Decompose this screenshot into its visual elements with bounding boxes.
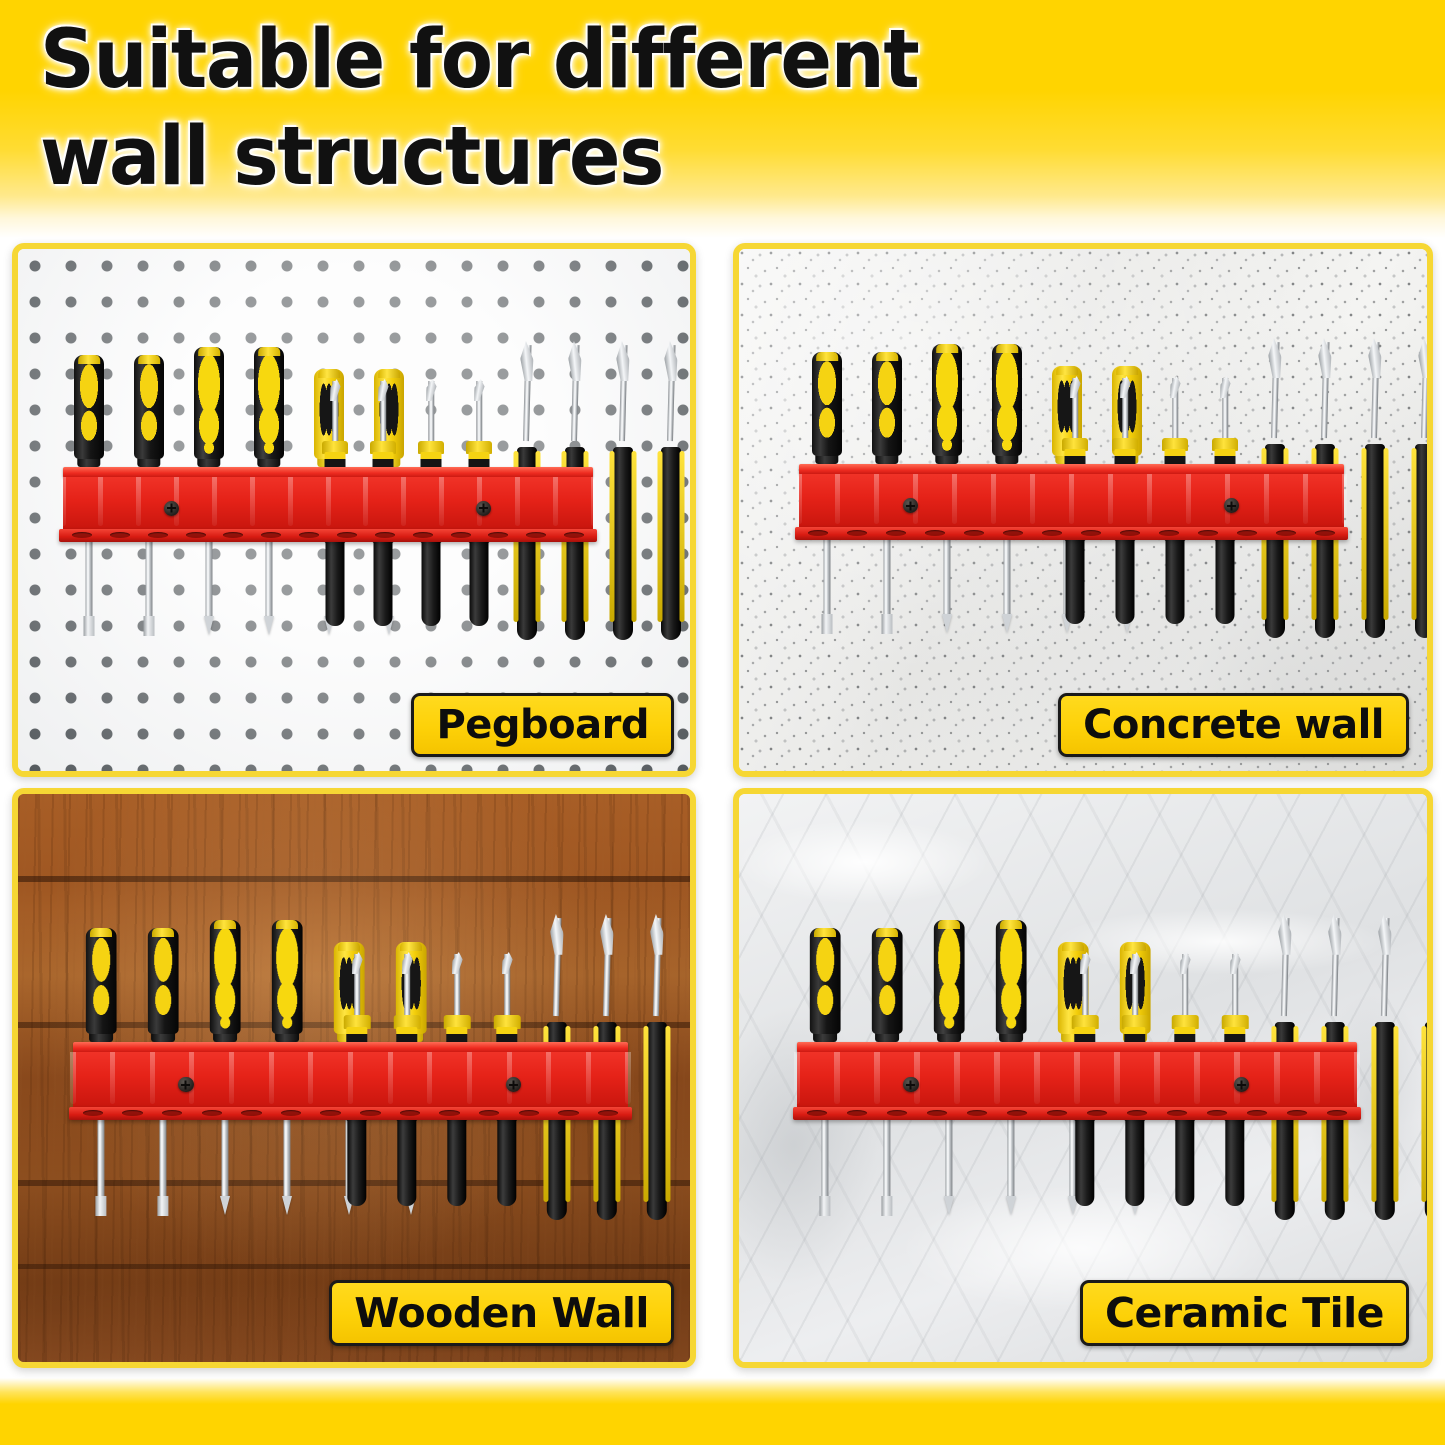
tool-black-handle: [647, 1022, 667, 1220]
rack-slot: [1194, 1052, 1199, 1103]
panel-concrete-wall: Concrete wall: [733, 243, 1433, 777]
tool-blade: [424, 379, 438, 401]
rack-slot: [797, 474, 802, 524]
tool-blade: [328, 379, 342, 401]
tool-blade: [1416, 338, 1433, 378]
rack-slot: [250, 477, 255, 526]
rack-hole: [320, 1110, 340, 1116]
screwdriver-handle: [134, 355, 164, 459]
tool-black-handle: [1365, 444, 1385, 638]
rack-hole: [162, 1110, 182, 1116]
rack-hole: [337, 532, 357, 538]
tool-black-handle: [661, 447, 681, 640]
rack-hole: [598, 1110, 618, 1116]
screwdriver-cap: [138, 355, 160, 364]
tool-blade: [472, 379, 486, 401]
rack-hole: [927, 1110, 947, 1116]
rack-hole: [564, 532, 584, 538]
badge-concrete-wall: Concrete wall: [1058, 693, 1409, 757]
tool-black-handle: [1075, 1118, 1094, 1206]
rack-hole: [148, 532, 168, 538]
rack-hole: [241, 1110, 261, 1116]
rack-slot: [1108, 474, 1113, 524]
tool-blade: [1426, 914, 1433, 955]
screwdriver-cap: [318, 369, 340, 378]
tool-blade: [500, 952, 514, 974]
screwdriver-cap: [1056, 366, 1078, 375]
red-tool-rack: [799, 464, 1344, 540]
rack-slot: [952, 474, 957, 524]
tool-black-handle: [470, 540, 489, 626]
flat-tip: [822, 614, 833, 634]
rack-slot: [835, 474, 840, 524]
tool-blade: [614, 341, 631, 381]
rack-slot: [348, 1052, 353, 1103]
tool-black-handle: [1175, 1118, 1194, 1206]
red-tool-rack: [63, 467, 593, 542]
rack-slot: [1342, 474, 1347, 524]
rack-slot: [150, 1052, 155, 1103]
screwdriver-cap: [1062, 942, 1084, 951]
tool-black-handle: [326, 540, 345, 626]
screwdriver-cap: [876, 352, 898, 361]
rack-mounting-screw: [178, 1077, 193, 1092]
screwdriver-handle: [74, 355, 104, 459]
tool-blade: [1316, 338, 1333, 378]
tool-yellow-edge: [1412, 448, 1417, 620]
tool-blade: [1068, 376, 1082, 398]
rack-hole: [1047, 1110, 1067, 1116]
rack-hole: [110, 532, 130, 538]
tool-blade: [1326, 914, 1344, 955]
rack-slot: [439, 477, 444, 526]
rack-slot: [591, 477, 596, 526]
rack-slot: [546, 1052, 551, 1103]
phillips-tip: [264, 616, 274, 635]
screwdriver-cap: [276, 920, 298, 929]
rack-hole: [1159, 530, 1179, 536]
flat-tip: [157, 1196, 168, 1216]
tool-black-handle: [1166, 538, 1185, 624]
rack-hole: [1087, 1110, 1107, 1116]
precision-tool: [1420, 918, 1433, 1247]
rack-hole: [1276, 530, 1296, 536]
tool-blade: [518, 341, 535, 381]
rack-slot: [1034, 1052, 1039, 1103]
rack-slot: [467, 1052, 472, 1103]
rack-hole: [1007, 1110, 1027, 1116]
tool-blade: [450, 952, 464, 974]
rack-hole: [1127, 1110, 1147, 1116]
screwdriver-cap: [338, 942, 360, 951]
precision-tool: [692, 918, 696, 1247]
screwdriver-cap: [938, 920, 960, 929]
screwdriver-cap: [996, 344, 1018, 353]
screwdriver-cap: [378, 369, 400, 378]
tool-blade: [1218, 376, 1232, 398]
rack-slot: [994, 1052, 999, 1103]
screwdriver-handle: [254, 347, 284, 459]
tool-blade: [1168, 376, 1182, 398]
rack-hole: [400, 1110, 420, 1116]
rack-slot: [363, 477, 368, 526]
rack-hole: [360, 1110, 380, 1116]
rack-slot: [1074, 1052, 1079, 1103]
flat-tip: [882, 614, 893, 634]
screwdriver-handle: [812, 352, 842, 456]
rack-slot: [1154, 1052, 1159, 1103]
screwdriver-cap: [152, 928, 174, 937]
tool-blade: [350, 952, 364, 974]
tool-blade: [662, 341, 679, 381]
rack-slot: [269, 1052, 274, 1103]
rack-hole: [558, 1110, 578, 1116]
panel-pegboard: Pegboard: [12, 243, 696, 777]
rack-slot: [427, 1052, 432, 1103]
tool-yellow-edge: [1371, 1026, 1376, 1202]
rack-hole: [1120, 530, 1140, 536]
tool-yellow-edge: [658, 451, 663, 622]
screwdriver-handle: [934, 920, 965, 1034]
rack-hole: [1042, 530, 1062, 536]
tool-yellow-edge: [1394, 1026, 1399, 1202]
rack-hole: [1247, 1110, 1267, 1116]
phillips-tip: [282, 1196, 292, 1215]
red-tool-rack: [73, 1042, 628, 1120]
rack-slot: [991, 474, 996, 524]
rack-hole: [807, 1110, 827, 1116]
rack-slot: [834, 1052, 839, 1103]
tool-yellow-edge: [693, 1026, 696, 1202]
tool-black-handle: [397, 1118, 416, 1206]
screwdriver-handle: [872, 928, 903, 1034]
tool-chrome-tip: [1431, 917, 1433, 1015]
rack-bottom-lip: [793, 1107, 1361, 1120]
rack-slot: [874, 1052, 879, 1103]
rack-slot: [1069, 474, 1074, 524]
tool-blade: [1178, 952, 1192, 974]
rack-slot: [212, 477, 217, 526]
precision-tool: [656, 345, 686, 666]
flat-tip: [881, 1196, 892, 1216]
rack-hole: [439, 1110, 459, 1116]
tool-yellow-edge: [632, 451, 637, 622]
precision-tool: [1370, 918, 1401, 1247]
rack-hole: [1287, 1110, 1307, 1116]
rack-hole: [887, 1110, 907, 1116]
rack-slot: [1303, 474, 1308, 524]
phillips-tip: [220, 1196, 230, 1215]
screwdriver-cap: [1116, 366, 1138, 375]
tool-black-handle: [1375, 1022, 1395, 1220]
screwdriver-handle: [210, 920, 241, 1034]
phillips-tip: [1006, 1196, 1016, 1215]
tool-black-handle: [1116, 538, 1135, 624]
phillips-tip: [204, 616, 214, 635]
rack-slot: [1314, 1052, 1319, 1103]
badge-pegboard: Pegboard: [411, 693, 674, 757]
rack-hole: [1315, 530, 1335, 536]
rack-hole: [967, 1110, 987, 1116]
screwdriver-cap: [400, 942, 422, 951]
rack-slot: [388, 1052, 393, 1103]
tool-blade: [1376, 914, 1394, 955]
rack-hole: [375, 532, 395, 538]
tool-blade: [1078, 952, 1092, 974]
rack-slot: [70, 1052, 75, 1103]
tool-yellow-edge: [1362, 448, 1367, 620]
rack-slot: [553, 477, 558, 526]
rack-mounting-screw: [164, 501, 179, 516]
rack-slot: [1186, 474, 1191, 524]
rack-mounting-screw: [903, 1077, 918, 1092]
tool-black-handle: [1216, 538, 1235, 624]
rack-hole: [299, 532, 319, 538]
screwdriver-handle: [872, 352, 902, 456]
rack-slot: [1030, 474, 1035, 524]
screwdriver-cap: [78, 355, 100, 364]
screwdriver-cap: [214, 920, 236, 929]
tool-black-handle: [1066, 538, 1085, 624]
precision-tool: [1360, 342, 1390, 664]
rack-hole: [451, 532, 471, 538]
tool-blade: [1118, 376, 1132, 398]
page-title: Suitable for different wall structures: [40, 12, 1224, 206]
rack-slot: [98, 477, 103, 526]
rack-hole: [1198, 530, 1218, 536]
screwdriver-handle: [810, 928, 841, 1034]
tool-black-handle: [1125, 1118, 1144, 1206]
rack-hole: [1237, 530, 1257, 536]
screwdriver-handle: [86, 928, 117, 1034]
rack-hole: [519, 1110, 539, 1116]
rack-hole: [122, 1110, 142, 1116]
rack-slot: [1114, 1052, 1119, 1103]
rack-slot: [586, 1052, 591, 1103]
panel-wooden-wall: Wooden Wall: [12, 788, 696, 1368]
badge-wooden-wall: Wooden Wall: [329, 1280, 674, 1346]
rack-mounting-screw: [903, 498, 918, 513]
rack-slot: [136, 477, 141, 526]
screwdriver-handle: [992, 344, 1022, 456]
screwdriver-cap: [876, 928, 898, 937]
tool-blade: [400, 952, 414, 974]
rack-hole: [281, 1110, 301, 1116]
tool-black-handle: [347, 1118, 366, 1206]
tool-blade: [1276, 914, 1294, 955]
tool-blade: [548, 914, 566, 955]
tool-yellow-edge: [610, 451, 615, 622]
screwdriver-cap: [1000, 920, 1022, 929]
badge-ceramic-tile: Ceramic Tile: [1080, 1280, 1409, 1346]
precision-tool: [642, 918, 673, 1247]
rack-hole: [202, 1110, 222, 1116]
rack-hole: [1207, 1110, 1227, 1116]
tool-black-handle: [422, 540, 441, 626]
rack-hole: [413, 532, 433, 538]
tool-black-handle: [447, 1118, 466, 1206]
rack-slot: [515, 477, 520, 526]
rack-hole: [1003, 530, 1023, 536]
rack-slot: [625, 1052, 630, 1103]
screwdriver-cap: [198, 347, 220, 356]
tool-black-handle: [374, 540, 393, 626]
rack-slot: [1354, 1052, 1359, 1103]
rack-hole: [72, 532, 92, 538]
tool-black-handle: [497, 1118, 516, 1206]
tool-yellow-edge: [1384, 448, 1389, 620]
screwdriver-handle: [272, 920, 303, 1034]
rack-slot: [61, 477, 66, 526]
tool-black-handle: [1415, 444, 1433, 638]
flat-tip: [819, 1196, 830, 1216]
phillips-tip: [944, 1196, 954, 1215]
screwdriver-cap: [936, 344, 958, 353]
rack-bottom-lip: [795, 527, 1348, 540]
precision-tool: [608, 345, 638, 666]
rack-slot: [954, 1052, 959, 1103]
phillips-tip: [942, 614, 952, 633]
tool-blade: [1366, 338, 1383, 378]
screwdriver-cap: [1124, 942, 1146, 951]
tool-black-handle: [613, 447, 633, 640]
rack-slot: [1147, 474, 1152, 524]
rack-slot: [326, 477, 331, 526]
tool-yellow-edge: [666, 1026, 671, 1202]
rack-slot: [1264, 474, 1269, 524]
rack-slot: [229, 1052, 234, 1103]
screwdriver-cap: [90, 928, 112, 937]
tool-yellow-edge: [1421, 1026, 1426, 1202]
rack-hole: [186, 532, 206, 538]
phillips-tip: [1002, 614, 1012, 633]
screwdriver-cap: [816, 352, 838, 361]
rack-hole: [847, 1110, 867, 1116]
screwdriver-handle: [996, 920, 1027, 1034]
tool-blade: [1128, 952, 1142, 974]
rack-slot: [110, 1052, 115, 1103]
rack-slot: [401, 477, 406, 526]
flat-tip: [84, 616, 95, 636]
tool-yellow-edge: [680, 451, 685, 622]
panel-ceramic-tile: Ceramic Tile: [733, 788, 1433, 1368]
rack-slot: [288, 477, 293, 526]
rack-slot: [874, 474, 879, 524]
red-tool-rack: [797, 1042, 1357, 1120]
rack-hole: [1327, 1110, 1347, 1116]
rack-hole: [1167, 1110, 1187, 1116]
rack-hole: [479, 1110, 499, 1116]
tool-blade: [566, 341, 583, 381]
tool-blade: [1266, 338, 1283, 378]
rack-slot: [1274, 1052, 1279, 1103]
rack-bottom-lip: [69, 1107, 632, 1120]
tool-black-handle: [1225, 1118, 1244, 1206]
rack-bottom-lip: [59, 529, 597, 542]
flat-tip: [95, 1196, 106, 1216]
tool-blade: [376, 379, 390, 401]
tool-blade: [648, 914, 666, 955]
rack-hole: [1081, 530, 1101, 536]
tool-blade: [598, 914, 616, 955]
screwdriver-handle: [932, 344, 962, 456]
screwdriver-handle: [194, 347, 224, 459]
screwdriver-cap: [258, 347, 280, 356]
tool-yellow-edge: [643, 1026, 648, 1202]
precision-tool: [1410, 342, 1433, 664]
screwdriver-cap: [814, 928, 836, 937]
flat-tip: [144, 616, 155, 636]
tool-blade: [1228, 952, 1242, 974]
rack-slot: [794, 1052, 799, 1103]
rack-slot: [308, 1052, 313, 1103]
screwdriver-handle: [148, 928, 179, 1034]
rack-hole: [83, 1110, 103, 1116]
